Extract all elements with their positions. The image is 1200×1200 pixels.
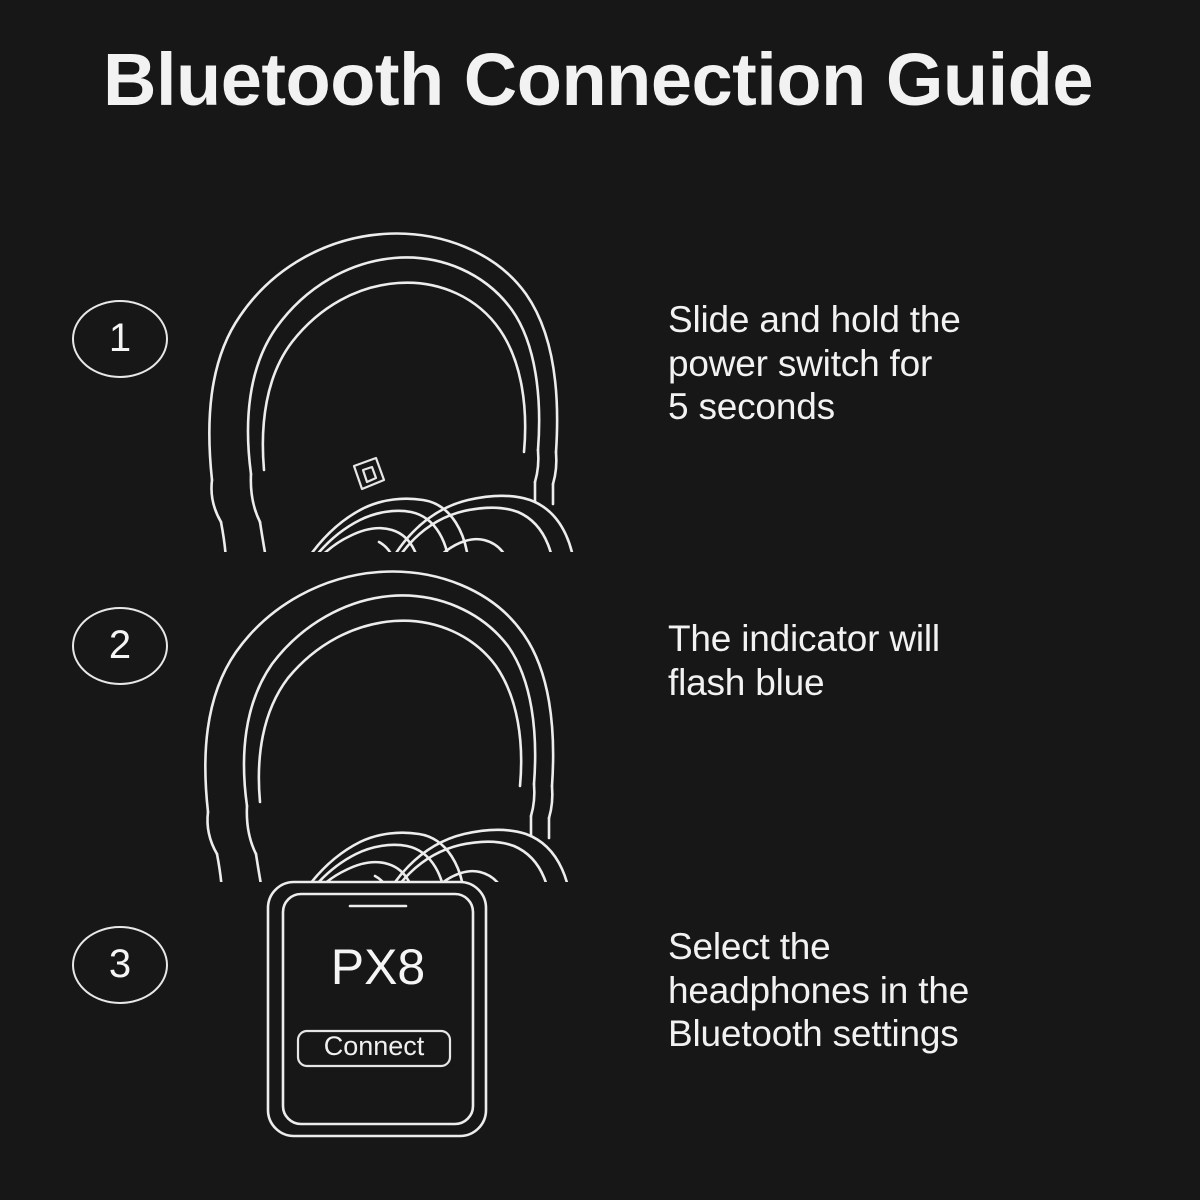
step-number-2: 2 <box>109 625 131 665</box>
headphones-illustration-2 <box>178 552 578 887</box>
phone-device-name: PX8 <box>331 939 426 995</box>
phone-illustration: PX8 Connect <box>258 872 508 1152</box>
connect-button-label[interactable]: Connect <box>324 1031 425 1061</box>
phone-body <box>268 882 486 1136</box>
step-description-2: The indicator will flash blue <box>668 617 1128 704</box>
phone-screen <box>283 894 473 1124</box>
phone-line-art: PX8 Connect <box>258 872 508 1147</box>
step-description-3: Select the headphones in the Bluetooth s… <box>668 925 1128 1056</box>
headphones-illustration-1 <box>178 212 578 557</box>
step-number-1: 1 <box>109 318 131 358</box>
step-number-badge-1: 1 <box>72 300 168 378</box>
guide-canvas: Bluetooth Connection Guide 1 <box>0 0 1200 1200</box>
headphones-line-art <box>178 212 578 552</box>
step-number-3: 3 <box>109 944 131 984</box>
step-description-1: Slide and hold the power switch for 5 se… <box>668 298 1128 429</box>
headphones-line-art-bluetooth <box>178 552 578 882</box>
page-title: Bluetooth Connection Guide <box>103 42 1093 117</box>
step-number-badge-2: 2 <box>72 607 168 685</box>
power-switch-icon <box>354 458 384 489</box>
step-number-badge-3: 3 <box>72 926 168 1004</box>
